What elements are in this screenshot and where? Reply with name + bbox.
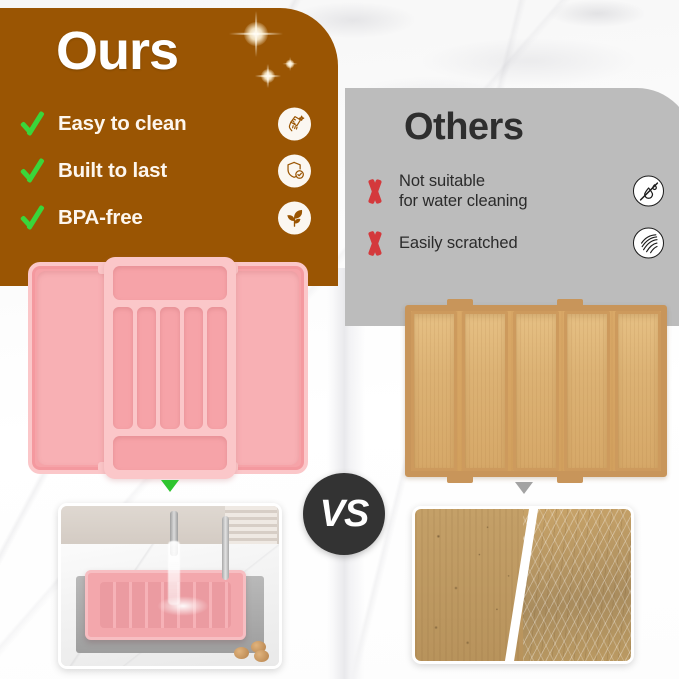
damaged-wood-scene	[415, 509, 631, 661]
bamboo-notch	[447, 475, 473, 483]
others-feature-label: Easily scratched	[399, 233, 518, 253]
water-splash	[157, 596, 209, 616]
organizer-center-tray	[104, 257, 236, 479]
check-icon	[16, 203, 50, 233]
no-water-droplet-icon	[633, 176, 664, 207]
others-feature-item: Not suitable for water cleaning	[360, 165, 660, 217]
check-icon	[16, 156, 50, 186]
organizer-wing-left	[37, 271, 107, 465]
ours-feature-label: Built to last	[58, 159, 167, 183]
pink-drawer-organizer	[28, 262, 308, 474]
faucet-body	[222, 516, 229, 580]
down-arrow-others	[515, 482, 533, 494]
ours-feature-item: Easy to clean	[16, 100, 306, 147]
organizer-column	[160, 307, 180, 429]
bamboo-notch	[557, 299, 583, 307]
organizer-column	[113, 307, 133, 429]
bamboo-column	[411, 311, 457, 471]
others-title: Others	[404, 108, 523, 146]
shield-check-icon	[278, 154, 311, 187]
organizer-column	[207, 307, 227, 429]
versus-label: VS	[320, 493, 369, 536]
bamboo-column	[462, 311, 508, 471]
bamboo-columns	[411, 311, 661, 471]
organizer-column	[184, 307, 204, 429]
others-photo-card	[412, 506, 634, 664]
others-feature-line2: for water cleaning	[399, 192, 527, 210]
cross-icon	[360, 229, 390, 257]
scratched-wood-half	[523, 509, 631, 661]
organizer-wing-right	[229, 271, 299, 465]
nuts-decoration	[234, 641, 270, 661]
ours-feature-item: BPA-free	[16, 194, 306, 241]
bamboo-column	[564, 311, 610, 471]
others-feature-label: Not suitable for water cleaning	[399, 171, 527, 211]
bamboo-notch	[447, 299, 473, 307]
versus-badge: VS	[303, 473, 385, 555]
bamboo-column	[615, 311, 661, 471]
ours-title: Ours	[56, 24, 178, 78]
others-feature-line1: Not suitable	[399, 172, 485, 190]
others-feature-item: Easily scratched	[360, 217, 660, 269]
sink-washing-scene	[61, 506, 279, 666]
organizer-columns	[113, 307, 227, 429]
ours-photo-card	[58, 503, 282, 669]
organizer-slot-top	[113, 266, 227, 300]
down-arrow-ours	[161, 480, 179, 492]
organizer-slot-bottom	[113, 436, 227, 470]
bamboo-notch	[557, 475, 583, 483]
comparison-infographic: Ours Easy to clean Built to last	[0, 0, 679, 679]
bamboo-column	[513, 311, 559, 471]
ours-feature-list: Easy to clean Built to last	[16, 100, 306, 241]
ours-feature-item: Built to last	[16, 147, 306, 194]
organizer-column	[137, 307, 157, 429]
check-icon	[16, 109, 50, 139]
others-feature-list: Not suitable for water cleaning Easily s…	[360, 165, 660, 269]
cross-icon	[360, 177, 390, 205]
scratch-lines-icon	[633, 228, 664, 259]
leaf-plant-icon	[278, 201, 311, 234]
hand-wiping-sparkle-icon	[278, 107, 311, 140]
bamboo-drawer-organizer	[405, 305, 667, 477]
ours-feature-label: Easy to clean	[58, 112, 186, 136]
ours-feature-label: BPA-free	[58, 206, 143, 230]
